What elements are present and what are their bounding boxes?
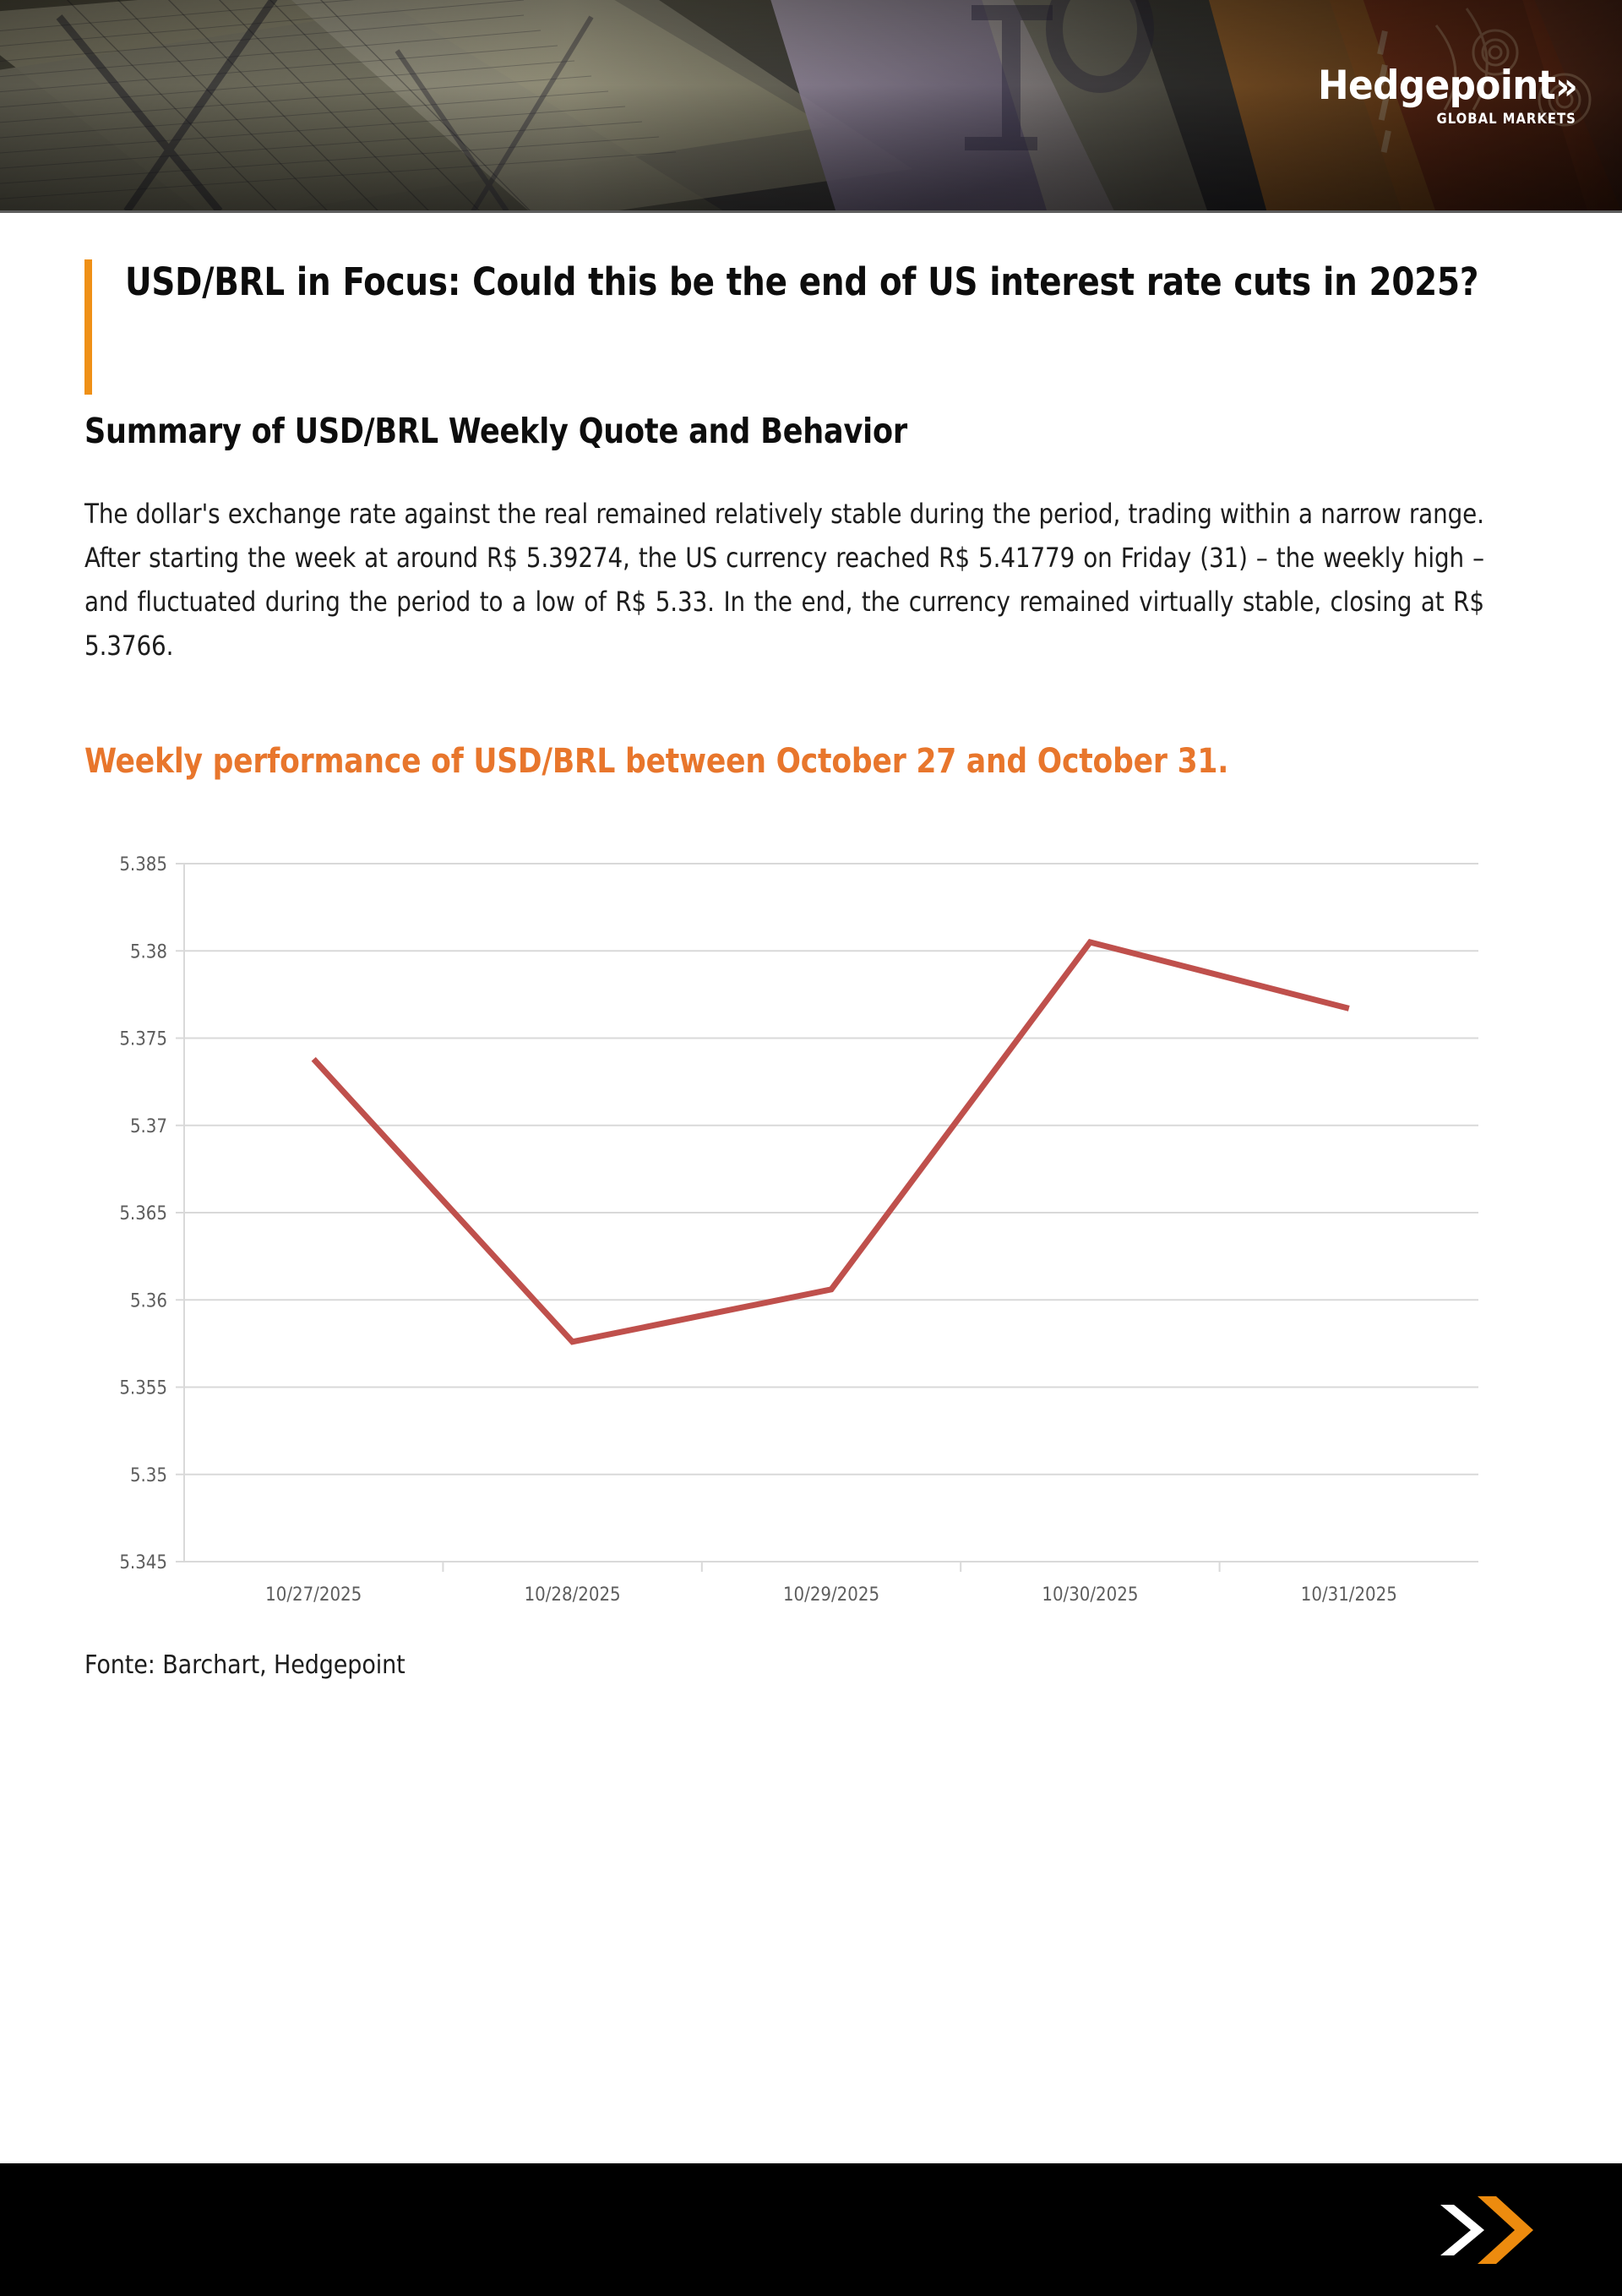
svg-text:5.36: 5.36 <box>130 1290 167 1312</box>
double-chevron-logo <box>1440 2196 1540 2264</box>
page-title: USD/BRL in Focus: Could this be the end … <box>125 255 1478 364</box>
svg-text:10/27/2025: 10/27/2025 <box>265 1584 362 1606</box>
svg-text:5.37: 5.37 <box>130 1116 167 1137</box>
page-content: USD/BRL in Focus: Could this be the end … <box>0 255 1622 1680</box>
svg-text:10/30/2025: 10/30/2025 <box>1042 1584 1138 1606</box>
section-heading: Summary of USD/BRL Weekly Quote and Beha… <box>84 411 1462 451</box>
svg-text:5.38: 5.38 <box>130 941 167 963</box>
svg-text:5.385: 5.385 <box>119 854 167 875</box>
logo-chevron-icon: » <box>1555 65 1576 108</box>
header-banner: Hedgepoint» GLOBAL MARKETS <box>0 0 1622 213</box>
svg-text:5.345: 5.345 <box>119 1552 167 1573</box>
logo-wordmark-text: Hedgepoint <box>1318 63 1555 109</box>
usd-brl-line-chart: 5.3455.355.3555.365.3655.375.3755.385.38… <box>84 850 1533 1632</box>
title-block: USD/BRL in Focus: Could this be the end … <box>84 255 1535 364</box>
banner-bottom-rule <box>0 210 1622 213</box>
svg-text:10/31/2025: 10/31/2025 <box>1301 1584 1397 1606</box>
svg-text:5.375: 5.375 <box>119 1028 167 1050</box>
svg-text:5.355: 5.355 <box>119 1377 167 1399</box>
svg-text:5.365: 5.365 <box>119 1203 167 1224</box>
chevron-orange-icon <box>1478 2196 1533 2264</box>
chart-title: Weekly performance of USD/BRL between Oc… <box>84 738 1472 787</box>
logo-wordmark: Hedgepoint» <box>1318 66 1576 106</box>
svg-text:5.35: 5.35 <box>130 1465 167 1486</box>
chart-canvas: 5.3455.355.3555.365.3655.375.3755.385.38… <box>84 850 1533 1632</box>
svg-text:10/28/2025: 10/28/2025 <box>525 1584 621 1606</box>
summary-paragraph: The dollar's exchange rate against the r… <box>84 492 1484 668</box>
title-accent-bar <box>84 259 92 395</box>
chevron-white-icon <box>1440 2205 1484 2255</box>
logo-subtitle: GLOBAL MARKETS <box>1326 111 1576 127</box>
svg-text:10/29/2025: 10/29/2025 <box>783 1584 879 1606</box>
hedgepoint-logo: Hedgepoint» GLOBAL MARKETS <box>1298 66 1576 127</box>
report-page: Hedgepoint» GLOBAL MARKETS USD/BRL in Fo… <box>0 0 1622 2296</box>
footer-bar <box>0 2163 1622 2296</box>
source-note: Fonte: Barchart, Hedgepoint <box>84 1650 1535 1680</box>
